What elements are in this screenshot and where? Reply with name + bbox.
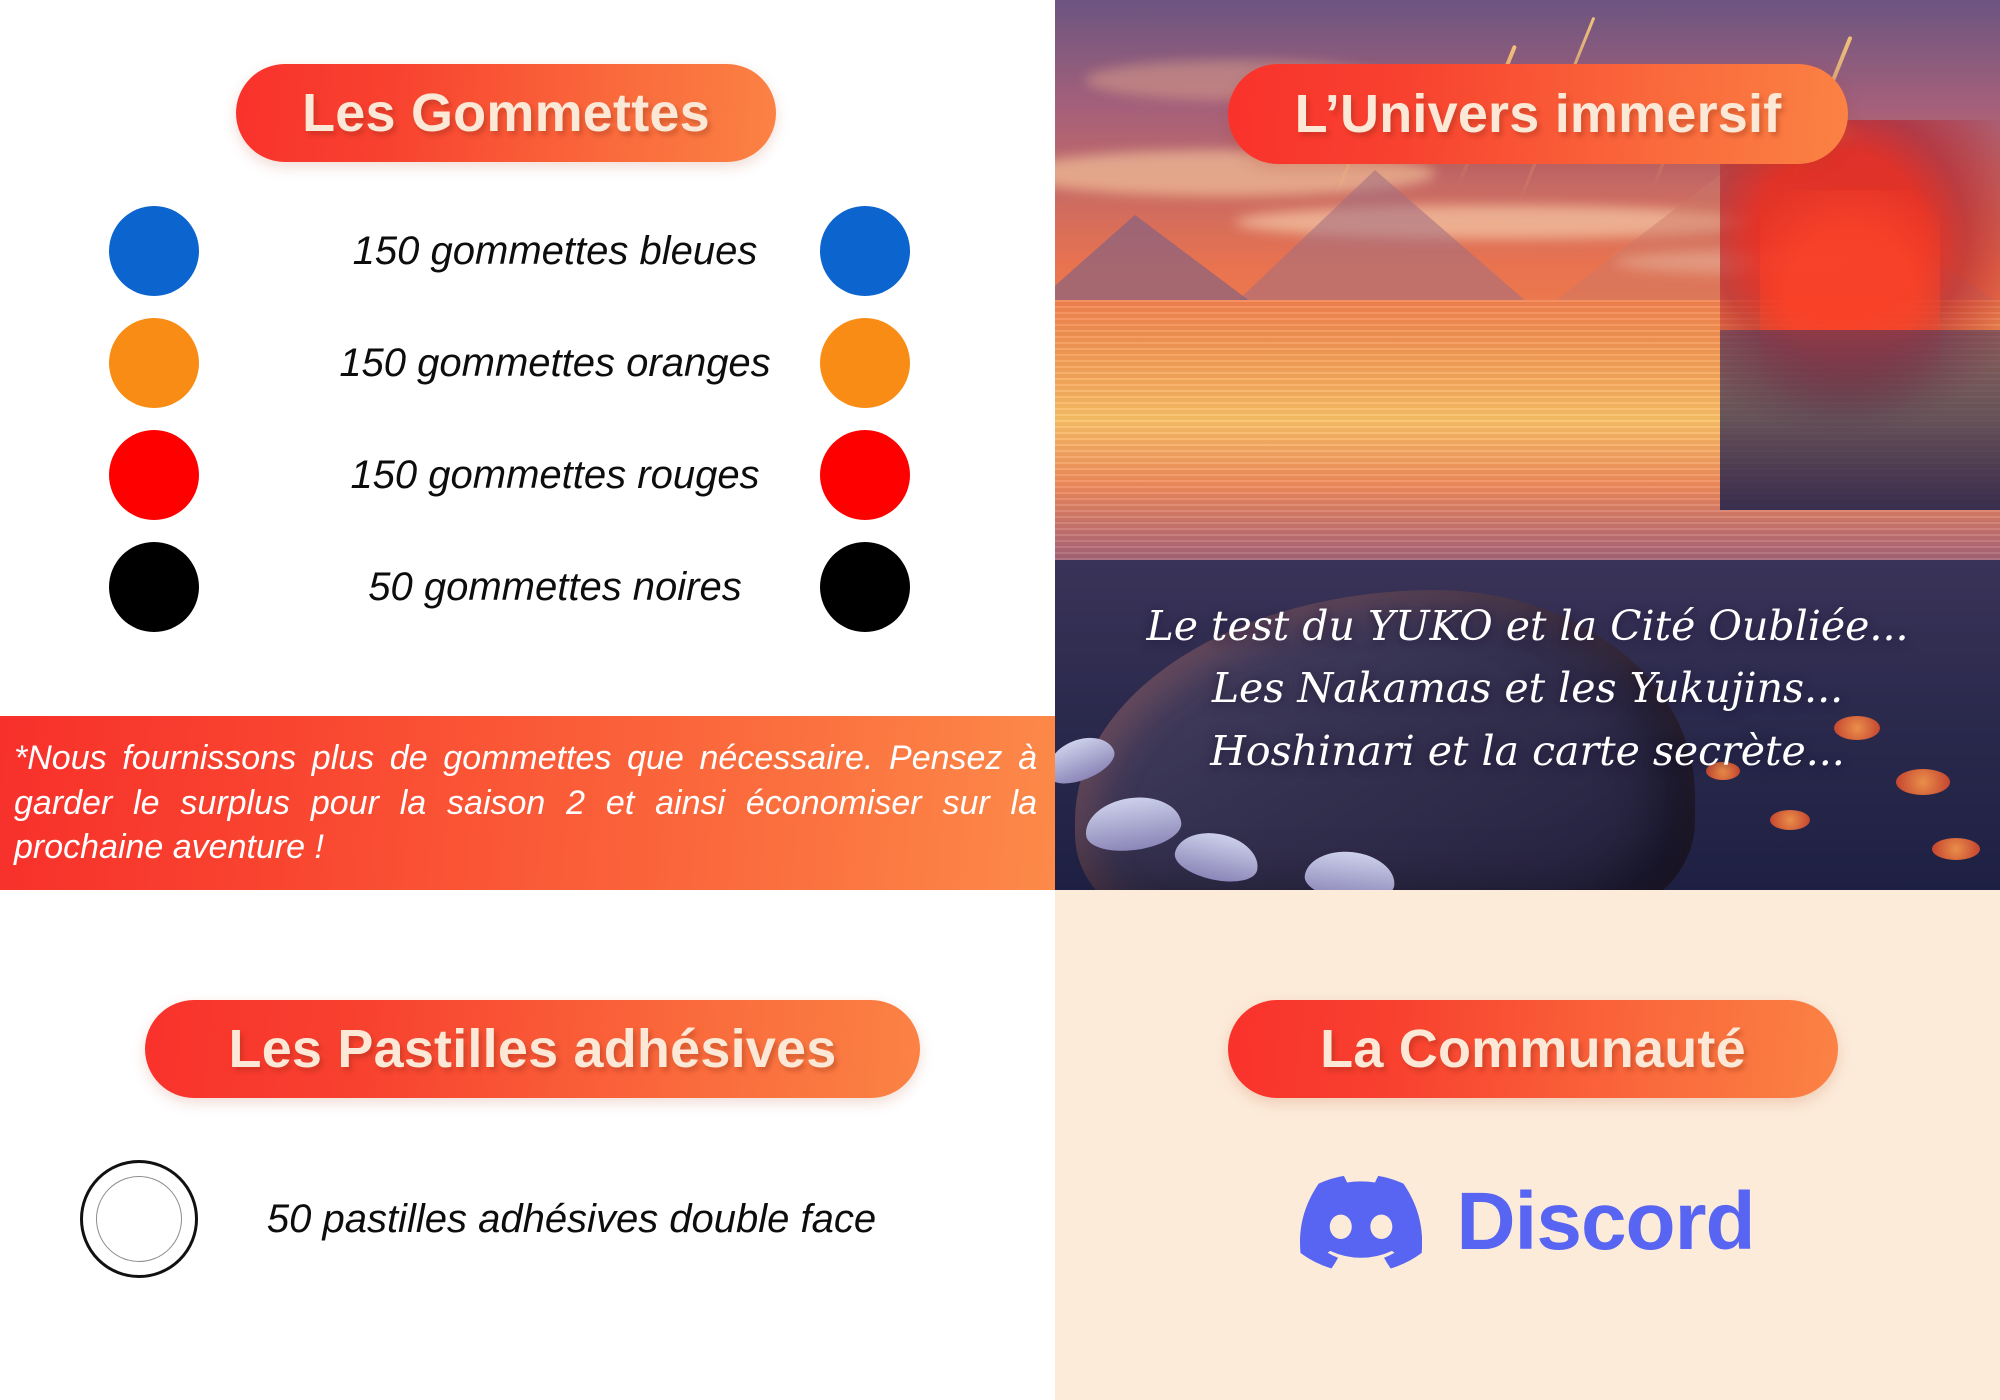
- infographic-page: Les Gommettes 150 gommettes bleues 150 g…: [0, 0, 2000, 1400]
- list-item-label: 150 gommettes rouges: [199, 453, 905, 498]
- panel-stickers: Les Gommettes 150 gommettes bleues 150 g…: [0, 0, 1055, 890]
- universe-script-lines: Le test du YUKO et la Cité Oubliée... Le…: [1055, 595, 2000, 782]
- sticker-list: 150 gommettes bleues 150 gommettes orang…: [0, 195, 1055, 643]
- circle-swatch-red-icon: [109, 430, 199, 520]
- panel-universe-title-text: L’Univers immersif: [1295, 83, 1782, 145]
- discord-link[interactable]: Discord: [1055, 1175, 2000, 1269]
- stickers-footnote-text: *Nous fournissons plus de gommettes que …: [0, 736, 1055, 871]
- list-item-label: 50 gommettes noires: [199, 565, 905, 610]
- script-line: Hoshinari et la carte secrète...: [1055, 720, 2000, 782]
- pads-list-item: 50 pastilles adhésives double face: [0, 1160, 1055, 1278]
- list-item-label: 150 gommettes bleues: [199, 229, 905, 274]
- list-item-label: 150 gommettes oranges: [199, 341, 905, 386]
- script-line: Les Nakamas et les Yukujins...: [1055, 657, 2000, 719]
- circle-swatch-black-icon-right: [820, 542, 910, 632]
- discord-wordmark: Discord: [1456, 1181, 1754, 1263]
- panel-pads-title: Les Pastilles adhésives: [145, 1000, 920, 1098]
- adhesive-pad-circle-icon: [80, 1160, 198, 1278]
- pads-list-item-label: 50 pastilles adhésives double face: [198, 1197, 1055, 1242]
- panel-universe-title: L’Univers immersif: [1228, 64, 1848, 164]
- list-item: 150 gommettes bleues: [0, 195, 1055, 307]
- discord-logo-icon: [1300, 1175, 1422, 1269]
- list-item: 150 gommettes oranges: [0, 307, 1055, 419]
- circle-swatch-black-icon: [109, 542, 199, 632]
- panel-stickers-title-text: Les Gommettes: [302, 82, 710, 144]
- stickers-footnote-banner: *Nous fournissons plus de gommettes que …: [0, 716, 1055, 890]
- panel-pads-title-text: Les Pastilles adhésives: [229, 1018, 837, 1080]
- circle-swatch-blue-icon-right: [820, 206, 910, 296]
- circle-swatch-orange-icon: [109, 318, 199, 408]
- panel-stickers-title: Les Gommettes: [236, 64, 776, 162]
- panel-community-title: La Communauté: [1228, 1000, 1838, 1098]
- circle-swatch-orange-icon-right: [820, 318, 910, 408]
- list-item: 150 gommettes rouges: [0, 419, 1055, 531]
- script-line: Le test du YUKO et la Cité Oubliée...: [1055, 595, 2000, 657]
- circle-swatch-blue-icon: [109, 206, 199, 296]
- list-item: 50 gommettes noires: [0, 531, 1055, 643]
- panel-pads: [0, 890, 1055, 1400]
- circle-swatch-red-icon-right: [820, 430, 910, 520]
- panel-community-title-text: La Communauté: [1320, 1018, 1746, 1080]
- panel-community: [1055, 890, 2000, 1400]
